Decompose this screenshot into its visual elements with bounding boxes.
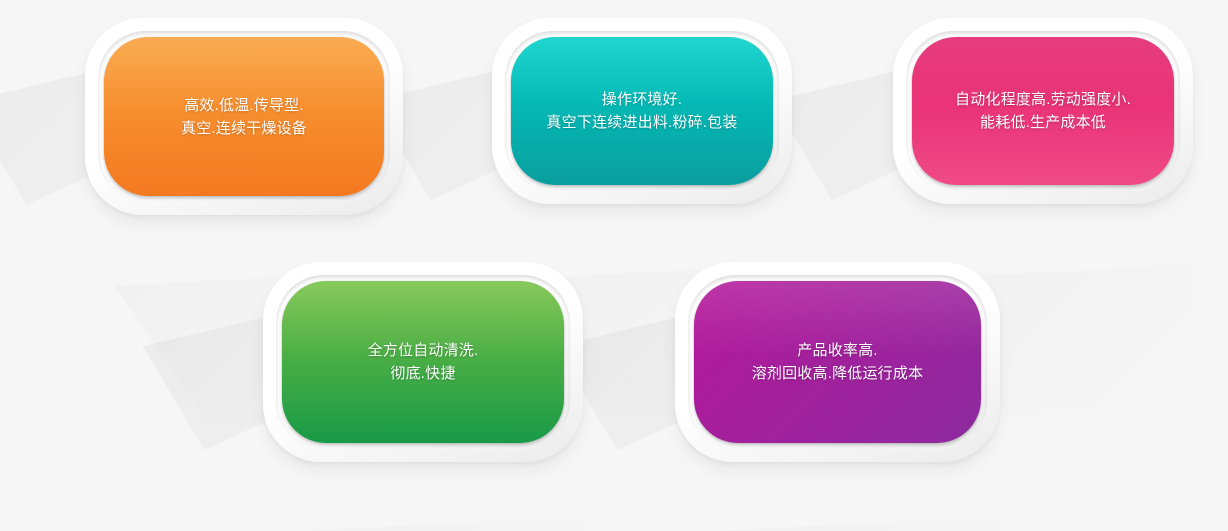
green-card-frame[interactable]: 全方位自动清洗. 彻底.快捷 (263, 262, 583, 462)
pink-card-frame[interactable]: 自动化程度高.劳动强度小. 能耗低.生产成本低 (893, 18, 1193, 204)
orange-card-panel[interactable]: 高效.低温.传导型. 真空.连续干燥设备 (104, 37, 384, 196)
feature-cards-canvas: 高效.低温.传导型. 真空.连续干燥设备操作环境好. 真空下连续进出料.粉碎.包… (0, 0, 1228, 531)
purple-card-panel[interactable]: 产品收率高. 溶剂回收高.降低运行成本 (694, 281, 981, 443)
purple-card-label: 产品收率高. 溶剂回收高.降低运行成本 (738, 339, 938, 385)
green-card-label: 全方位自动清洗. 彻底.快捷 (354, 339, 493, 385)
pink-card-panel[interactable]: 自动化程度高.劳动强度小. 能耗低.生产成本低 (912, 37, 1174, 185)
teal-card-panel[interactable]: 操作环境好. 真空下连续进出料.粉碎.包装 (511, 37, 773, 185)
orange-card-label: 高效.低温.传导型. 真空.连续干燥设备 (167, 94, 321, 140)
purple-card-frame[interactable]: 产品收率高. 溶剂回收高.降低运行成本 (675, 262, 1000, 462)
orange-card-frame[interactable]: 高效.低温.传导型. 真空.连续干燥设备 (85, 18, 403, 215)
teal-card-label: 操作环境好. 真空下连续进出料.粉碎.包装 (532, 88, 751, 134)
pink-card-label: 自动化程度高.劳动强度小. 能耗低.生产成本低 (941, 88, 1145, 134)
green-card-panel[interactable]: 全方位自动清洗. 彻底.快捷 (282, 281, 564, 443)
teal-card-frame[interactable]: 操作环境好. 真空下连续进出料.粉碎.包装 (492, 18, 792, 204)
